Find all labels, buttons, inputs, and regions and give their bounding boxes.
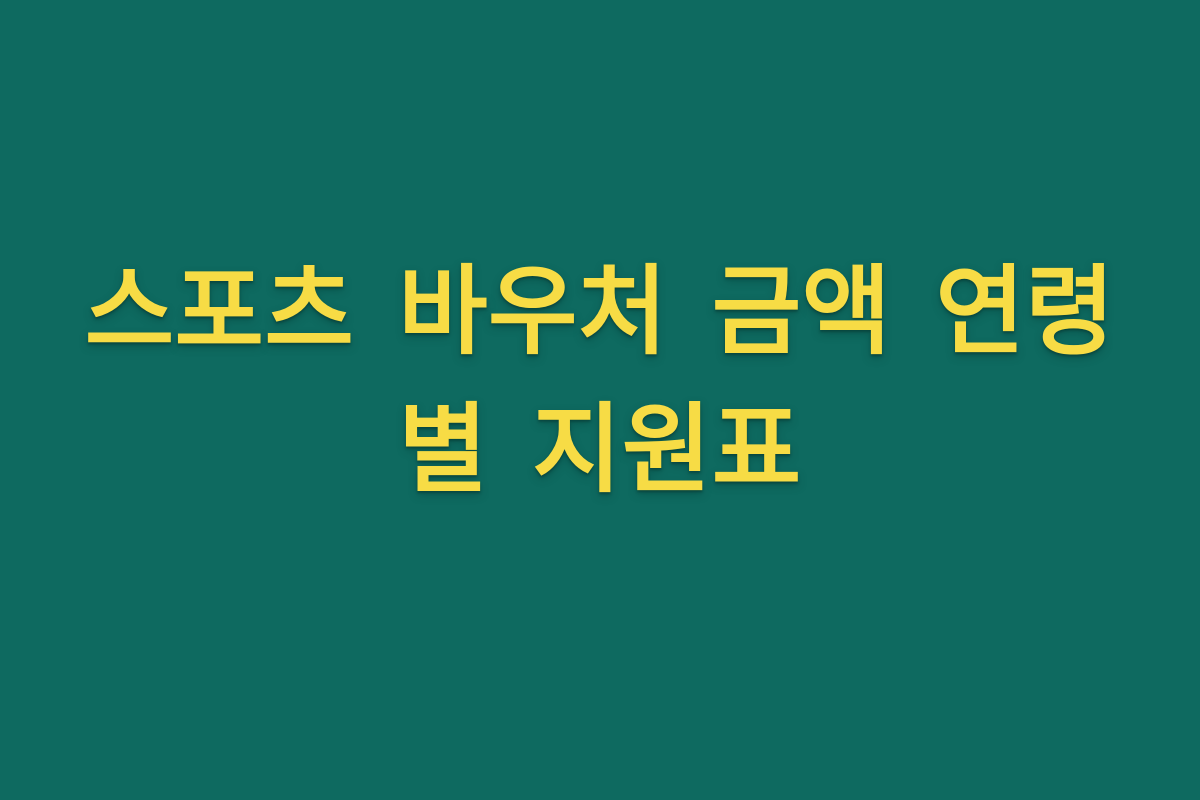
title-banner: 스포츠 바우처 금액 연령 별 지원표 <box>0 0 1200 800</box>
title-block: 스포츠 바우처 금액 연령 별 지원표 <box>65 243 1135 518</box>
page-title: 스포츠 바우처 금액 연령 별 지원표 <box>65 243 1135 518</box>
